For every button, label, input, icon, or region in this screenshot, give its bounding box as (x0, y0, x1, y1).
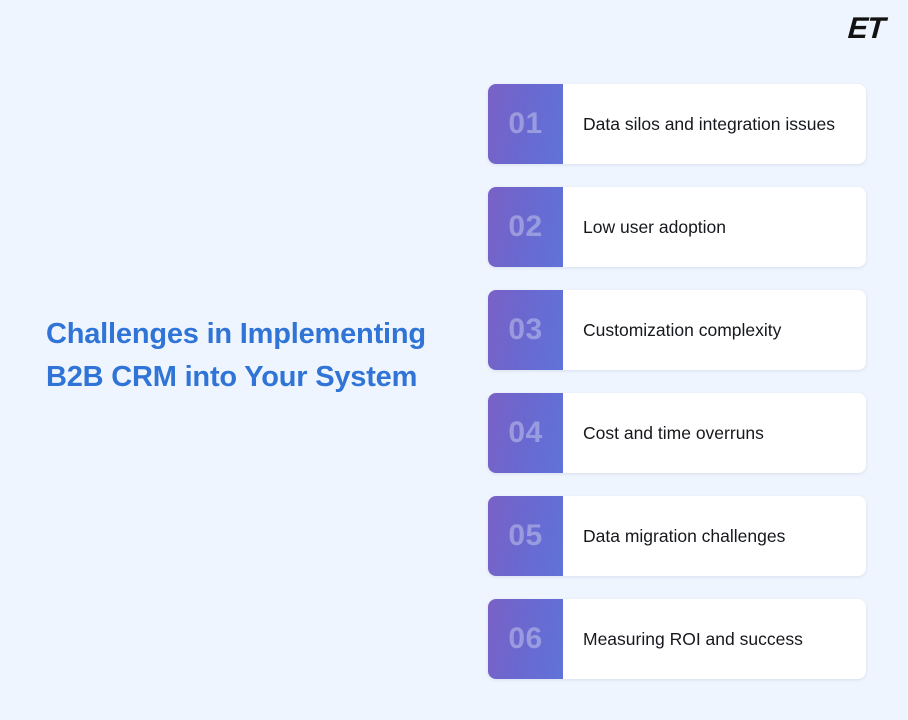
challenges-card-list: 01 Data silos and integration issues 02 … (488, 84, 866, 679)
challenge-number-badge: 03 (488, 290, 563, 370)
challenge-number-badge: 04 (488, 393, 563, 473)
challenge-number-badge: 06 (488, 599, 563, 679)
challenge-card: 03 Customization complexity (488, 290, 866, 370)
challenge-label: Cost and time overruns (563, 393, 866, 473)
challenge-label: Data migration challenges (563, 496, 866, 576)
challenge-card: 01 Data silos and integration issues (488, 84, 866, 164)
challenge-card: 05 Data migration challenges (488, 496, 866, 576)
challenge-number-badge: 02 (488, 187, 563, 267)
page-title: Challenges in Implementing B2B CRM into … (46, 313, 446, 399)
challenge-number-badge: 01 (488, 84, 563, 164)
et-brand-logo: ET (847, 14, 885, 44)
infographic-page: ET Challenges in Implementing B2B CRM in… (0, 0, 908, 720)
challenge-card: 06 Measuring ROI and success (488, 599, 866, 679)
challenge-number-badge: 05 (488, 496, 563, 576)
challenge-card: 04 Cost and time overruns (488, 393, 866, 473)
challenge-label: Measuring ROI and success (563, 599, 866, 679)
challenge-card: 02 Low user adoption (488, 187, 866, 267)
challenge-label: Data silos and integration issues (563, 84, 866, 164)
challenge-label: Low user adoption (563, 187, 866, 267)
challenge-label: Customization complexity (563, 290, 866, 370)
